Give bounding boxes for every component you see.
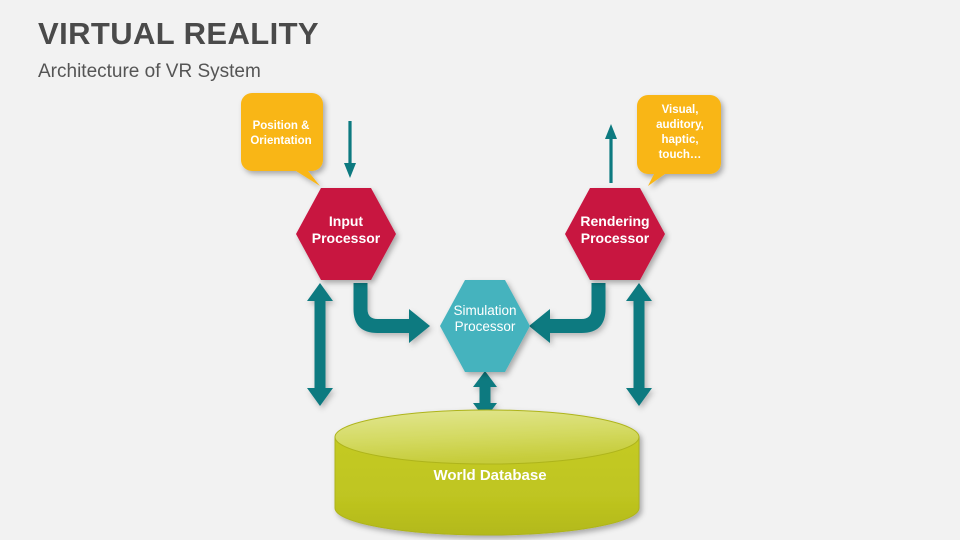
node-world-database[interactable] [335, 410, 639, 535]
callout-position-orientation[interactable] [241, 93, 323, 186]
vr-architecture-diagram [0, 0, 960, 540]
slide-canvas: VIRTUAL REALITY Architecture of VR Syste… [0, 0, 960, 540]
rendering-to-simulation-arrow [529, 283, 606, 343]
input-to-simulation-arrow [354, 283, 431, 343]
node-rendering-processor[interactable] [565, 188, 665, 280]
input-database-arrow [307, 283, 333, 406]
node-input-processor[interactable] [296, 188, 396, 280]
callout-sensory-output[interactable] [637, 95, 721, 186]
output-feed-arrow [605, 124, 617, 183]
rendering-database-arrow [626, 283, 652, 406]
node-simulation-processor[interactable] [440, 280, 530, 372]
input-feed-arrow [344, 121, 356, 178]
